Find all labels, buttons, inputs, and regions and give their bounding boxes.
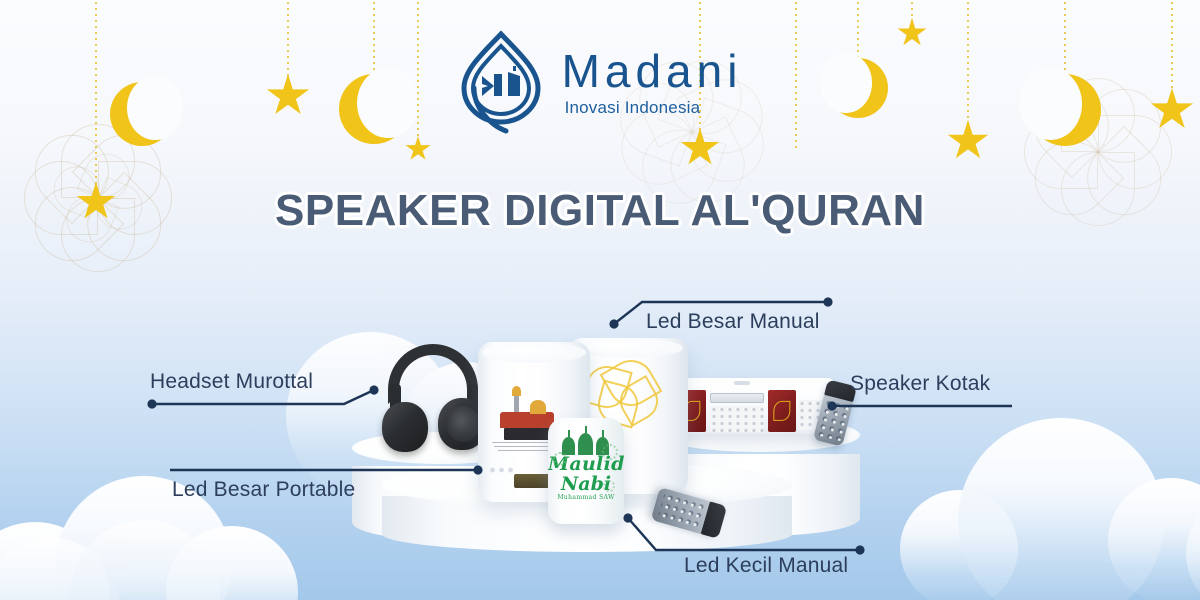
decor-circle: [603, 480, 615, 492]
callout-leader-line: [148, 370, 378, 414]
small-led-speaker-product: Maulid Nabi Muhammad SAW: [548, 418, 624, 524]
callout-led-kecil-manual: Led Kecil Manual: [620, 512, 870, 572]
callout-speaker-kotak: Speaker Kotak: [826, 372, 1016, 416]
brand-wordmark: Madani Inovasi Indonesia: [562, 48, 743, 116]
callout-leader-line: [826, 372, 1016, 416]
dome-illustration: [530, 400, 546, 414]
speaker-lcd-display: [710, 393, 764, 403]
callout-led-besar-manual: Led Besar Manual: [608, 296, 834, 340]
headphone-band: [388, 344, 478, 404]
madani-leaf-monogram-icon: [458, 30, 544, 134]
brand-logo: Madani Inovasi Indonesia: [0, 30, 1200, 134]
star-icon: [680, 128, 720, 168]
promo-banner: Madani Inovasi Indonesia SPEAKER DIGITAL…: [0, 0, 1200, 600]
kaaba-illustration: [504, 428, 552, 440]
headphone-earpad: [446, 406, 480, 442]
speaker-control-buttons: [488, 466, 514, 473]
headphone-earcup-left: [382, 402, 428, 452]
callout-leader-line: [608, 296, 834, 340]
page-title: SPEAKER DIGITAL AL'QURAN: [0, 186, 1200, 236]
brand-tagline: Inovasi Indonesia: [562, 99, 743, 116]
quran-book-cover-right: [768, 390, 796, 432]
ornament-string: [911, 0, 913, 22]
speaker-keypad: [710, 406, 764, 432]
speaker-grille: [514, 474, 552, 488]
cloud-shape: [0, 520, 240, 600]
mandala-watermark-right: [1096, 150, 1100, 154]
cloud-shape: [900, 418, 1200, 600]
callout-leader-line: [620, 512, 870, 572]
headphones-product: [382, 344, 486, 454]
mosque-roof-illustration: [500, 412, 554, 428]
box-speaker-product: [676, 378, 834, 434]
decor-circle: [602, 444, 618, 460]
dome-illustration: [512, 386, 521, 396]
speaker-top-button: [734, 381, 750, 385]
star-icon: [405, 136, 431, 162]
callout-headset-murottal: Headset Murottal: [148, 370, 378, 414]
callout-led-besar-portable: Led Besar Portable: [168, 462, 488, 506]
artwork-line-3: Muhammad SAW: [548, 495, 624, 501]
mosque-dome-icon: [578, 433, 593, 455]
brand-name: Madani: [562, 48, 743, 94]
mosque-dome-icon: [562, 437, 575, 455]
callout-leader-line: [168, 462, 488, 506]
decor-circle: [553, 452, 567, 466]
